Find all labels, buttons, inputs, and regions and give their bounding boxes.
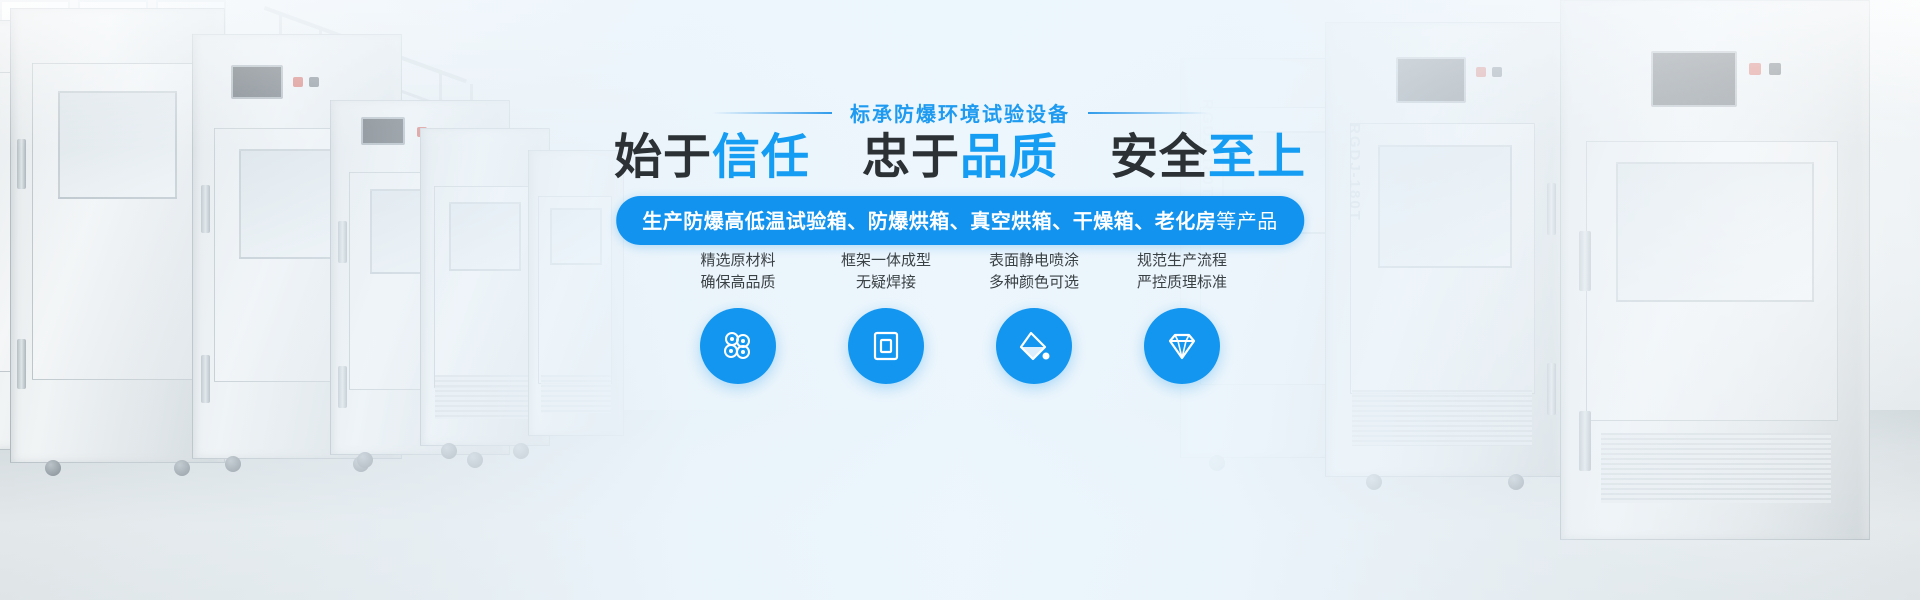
eyebrow-row: 标承防爆环境试验设备 [0,98,1920,127]
headline-segment-1: 始于信任 [614,130,810,185]
product-list-pill: 生产防爆高低温试验箱、防爆烘箱、真空烘箱、干燥箱、老化房等产品 [616,196,1304,245]
diamond-icon [1162,326,1202,366]
headline-dark-3: 安全 [1110,131,1208,184]
feature-item-materials[interactable]: 精选原材料 确保高品质 [688,250,788,384]
eyebrow-rule-right [1088,112,1208,114]
headline-segment-2: 忠于品质 [862,130,1058,185]
materials-icon-circle[interactable] [700,308,776,384]
feature-line-1: 表面静电喷涂 [989,250,1079,272]
feature-line-1: 框架一体成型 [841,250,931,272]
feature-line-2: 严控质理标准 [1137,272,1227,294]
hero-banner: RGDJ-100T RGDJ-80T RGDJ-100 [0,0,1920,600]
product-list-tail: 等产品 [1216,211,1278,233]
feature-row: 精选原材料 确保高品质 [688,250,1232,384]
headline-blue-3: 至上 [1208,131,1306,184]
spray-icon [1013,325,1055,367]
frame-icon-circle[interactable] [848,308,924,384]
feature-item-frame[interactable]: 框架一体成型 无疑焊接 [836,250,936,384]
feature-item-spray[interactable]: 表面静电喷涂 多种颜色可选 [984,250,1084,384]
eyebrow-rule-left [712,112,832,114]
feature-item-process[interactable]: 规范生产流程 严控质理标准 [1132,250,1232,384]
feature-line-2: 确保高品质 [700,272,775,294]
product-list-strong: 生产防爆高低温试验箱、防爆烘箱、真空烘箱、干燥箱、老化房 [642,211,1216,233]
frame-icon [866,326,906,366]
headline-blue-1: 信任 [712,131,810,184]
feature-line-2: 无疑焊接 [856,272,916,294]
feature-line-1: 规范生产流程 [1137,250,1227,272]
headline: 始于信任 忠于品质 安全至上 [0,130,1920,185]
headline-dark-2: 忠于 [862,131,960,184]
banner-content: 标承防爆环境试验设备 始于信任 忠于品质 安全至上 生产防爆高低温试验箱、防爆烘… [0,0,1920,600]
headline-dark-1: 始于 [614,131,712,184]
eyebrow-text: 标承防爆环境试验设备 [850,98,1070,127]
spray-icon-circle[interactable] [996,308,1072,384]
feature-line-2: 多种颜色可选 [989,272,1079,294]
feature-line-1: 精选原材料 [700,250,775,272]
diamond-icon-circle[interactable] [1144,308,1220,384]
materials-icon [718,326,758,366]
headline-blue-2: 品质 [960,131,1058,184]
headline-segment-3: 安全至上 [1110,130,1306,185]
